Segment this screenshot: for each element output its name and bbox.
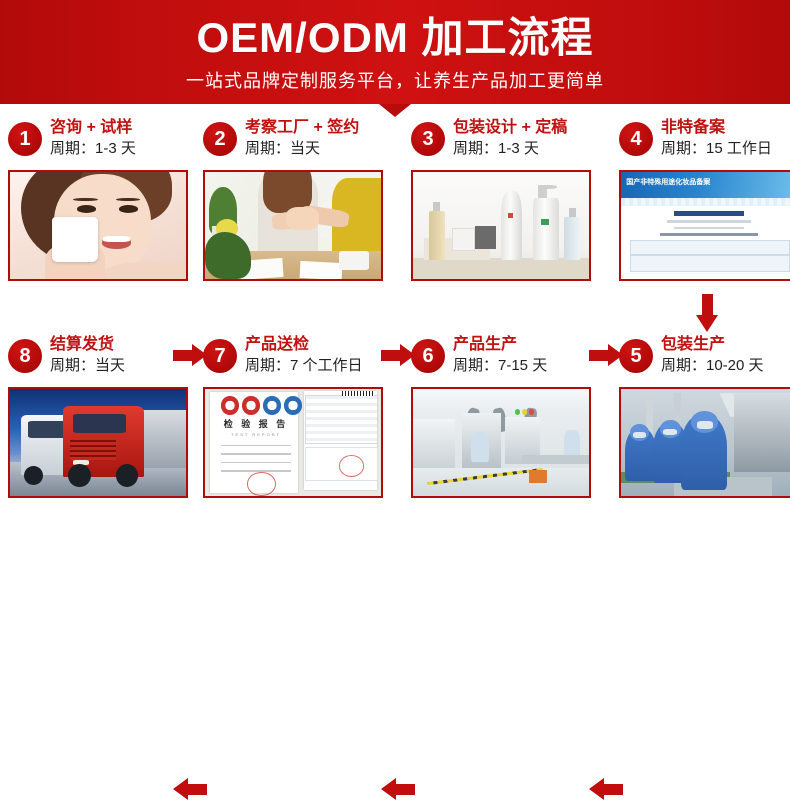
step-title-7: 产品送检 — [245, 336, 363, 354]
non-special-filing-photo: 国产非特殊用途化妆品备案 — [619, 170, 790, 281]
delivery-trucks-illustration — [10, 389, 186, 496]
report-stamp-icon — [247, 472, 275, 495]
header-banner: OEM/ODM 加工流程 一站式品牌定制服务平台，让养生产品加工更简单 — [0, 0, 790, 104]
step-card-2: 2 考察工厂 + 签约 周期：当天 — [203, 120, 385, 305]
product-production-photo — [411, 387, 591, 498]
step-card-4: 4 非特备案 周期：15 工作日 国产非特殊用途化妆品备案 — [619, 120, 790, 305]
step-cycle-2: 周期：当天 — [245, 140, 359, 158]
step-badge-4: 4 — [619, 122, 653, 156]
arrow-step6-to-step7 — [381, 778, 415, 800]
step-badge-5: 5 — [619, 339, 653, 373]
step-badge-8: 8 — [8, 339, 42, 373]
arrow-step5-to-step6 — [589, 778, 623, 800]
arrow-step7-to-step8 — [173, 778, 207, 800]
step-cycle-8: 周期：当天 — [50, 357, 125, 375]
certification-logo-icon — [221, 396, 239, 414]
header-notch-triangle — [379, 104, 411, 117]
step-card-8: 8 结算发货 周期：当天 — [8, 337, 190, 522]
step-card-7: 7 产品送检 周期：7 个工作日 检 验 报 告 TEST REPORT — [203, 337, 385, 522]
step-title-5: 包装生产 — [661, 336, 764, 354]
process-row-top: 1 咨询 + 试样 周期：1-3 天 — [0, 120, 790, 305]
woman-applying-cotton-pad-illustration — [10, 172, 186, 279]
step-card-1: 1 咨询 + 试样 周期：1-3 天 — [8, 120, 190, 305]
step-badge-6: 6 — [411, 339, 445, 373]
step-card-6: 6 产品生产 周期：7-15 天 — [411, 337, 593, 522]
step-cycle-4: 周期：15 工作日 — [661, 140, 772, 158]
arrow-step4-to-step5 — [696, 294, 718, 334]
step-cycle-5: 周期：10-20 天 — [661, 357, 764, 375]
step-badge-1: 1 — [8, 122, 42, 156]
step-card-5: 5 包装生产 周期：10-20 天 — [619, 337, 790, 522]
step-cycle-6: 周期：7-15 天 — [453, 357, 547, 375]
settlement-shipping-photo — [8, 387, 188, 498]
certification-logo-icon — [242, 396, 260, 414]
factory-visit-contract-photo — [203, 170, 383, 281]
step-cycle-1: 周期：1-3 天 — [50, 140, 136, 158]
step-title-3: 包装设计 + 定稿 — [453, 119, 567, 137]
test-report-illustration: 检 验 报 告 TEST REPORT — [205, 389, 381, 496]
step-title-4: 非特备案 — [661, 119, 772, 137]
report-stamp-icon — [339, 455, 364, 476]
step-cycle-7: 周期：7 个工作日 — [245, 357, 363, 375]
certification-logo-icon — [284, 396, 302, 414]
oem-odm-process-infographic: OEM/ODM 加工流程 一站式品牌定制服务平台，让养生产品加工更简单 1 咨询… — [0, 0, 790, 510]
production-line-illustration — [413, 389, 589, 496]
step-badge-3: 3 — [411, 122, 445, 156]
step-title-1: 咨询 + 试样 — [50, 119, 136, 137]
step-title-2: 考察工厂 + 签约 — [245, 119, 359, 137]
step-badge-2: 2 — [203, 122, 237, 156]
report-subtitle: TEST REPORT — [219, 432, 293, 437]
packaging-production-photo — [619, 387, 790, 498]
step-card-3: 3 包装设计 + 定稿 周期：1-3 天 — [411, 120, 593, 305]
report-title: 检 验 报 告 — [219, 417, 293, 430]
filing-site-banner-text: 国产非特殊用途化妆品备案 — [626, 177, 710, 187]
step-cycle-3: 周期：1-3 天 — [453, 140, 567, 158]
page-subtitle: 一站式品牌定制服务平台，让养生产品加工更简单 — [186, 72, 604, 90]
page-title: OEM/ODM 加工流程 — [197, 17, 594, 59]
cosmetic-products-illustration — [413, 172, 589, 279]
product-inspection-photo: 检 验 报 告 TEST REPORT — [203, 387, 383, 498]
consultation-sampling-photo — [8, 170, 188, 281]
filing-website-illustration: 国产非特殊用途化妆品备案 — [621, 172, 790, 279]
handshake-illustration — [205, 172, 381, 279]
process-row-bottom: 8 结算发货 周期：当天 7 — [0, 337, 790, 522]
packaging-workers-illustration — [621, 389, 790, 496]
certification-logo-icon — [263, 396, 281, 414]
packaging-design-photo — [411, 170, 591, 281]
step-title-8: 结算发货 — [50, 336, 125, 354]
step-badge-7: 7 — [203, 339, 237, 373]
step-title-6: 产品生产 — [453, 336, 547, 354]
